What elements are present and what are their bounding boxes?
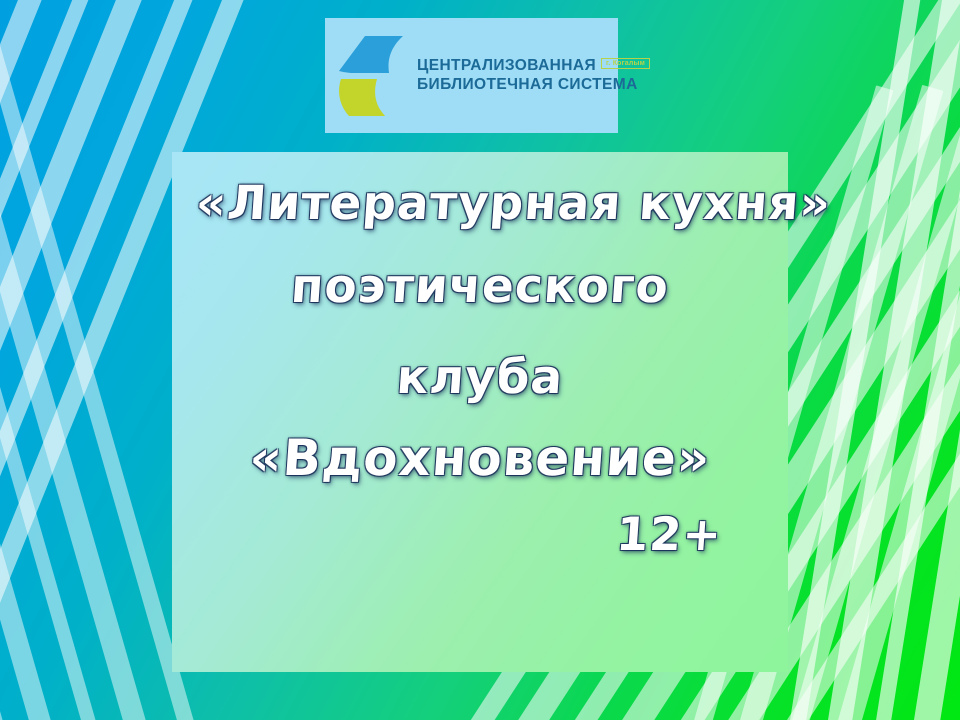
title-line-3: клуба: [194, 354, 765, 401]
stripe: [0, 0, 137, 720]
poster-slide: ЦЕНТРАЛИЗОВАННАЯ г. Когалым БИБЛИОТЕЧНАЯ…: [0, 0, 960, 720]
title-line-4: «Вдохновение»: [194, 433, 765, 483]
stripe: [796, 0, 960, 720]
logo-line-2: БИБЛИОТЕЧНАЯ СИСТЕМА: [417, 76, 650, 94]
logo-line-1: ЦЕНТРАЛИЗОВАННАЯ г. Когалым: [417, 57, 650, 75]
title-line-2: поэтического: [194, 263, 765, 310]
title-line-1: «Литературная кухня»: [194, 180, 765, 227]
stripe: [758, 0, 960, 720]
stripe: [0, 0, 153, 720]
age-rating-label: 12+: [194, 511, 765, 557]
open-book-logo-icon: [335, 33, 409, 119]
logo-city-badge: г. Когалым: [601, 58, 650, 70]
decorative-stripes-far-right: [830, 0, 960, 720]
logo-text-block: ЦЕНТРАЛИЗОВАННАЯ г. Когалым БИБЛИОТЕЧНАЯ…: [417, 57, 650, 94]
stripe: [0, 0, 190, 720]
library-logo-card: ЦЕНТРАЛИЗОВАННАЯ г. Когалым БИБЛИОТЕЧНАЯ…: [325, 18, 618, 133]
logo-line-1-text: ЦЕНТРАЛИЗОВАННАЯ: [417, 57, 596, 75]
content-panel: «Литературная кухня» поэтического клуба …: [172, 152, 788, 672]
